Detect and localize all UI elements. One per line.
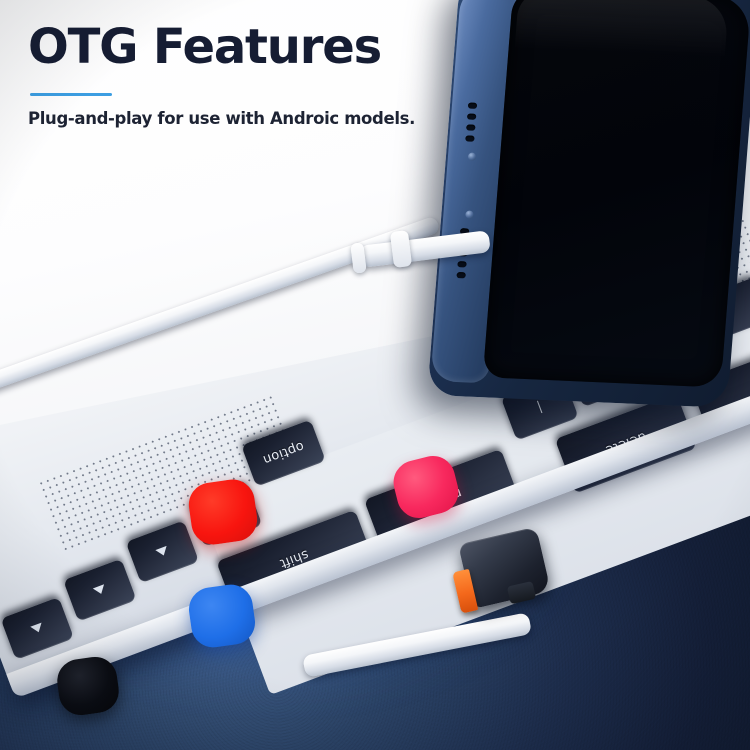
page-title: OTG Features [28,22,458,72]
key-arrow-down[interactable] [63,559,136,622]
key-label: option [261,440,306,467]
triangle-icon [155,546,169,558]
smartphone [427,0,750,408]
product-marketing-image: optionshiftreturn|}{delete O [0,0,750,750]
key-label: | [535,401,544,415]
key-arrow-left[interactable] [1,597,74,660]
key-arrow-up[interactable] [126,520,199,583]
phone-screen-glare [515,0,730,58]
accent-divider [30,93,112,96]
phone-screen [483,0,750,388]
triangle-icon [30,623,44,635]
triangle-icon [93,584,107,596]
page-subtitle: Plug-and-play for use with Androic model… [28,109,458,128]
header-text-block: OTG Features Plug-and-play for use with … [28,22,458,128]
